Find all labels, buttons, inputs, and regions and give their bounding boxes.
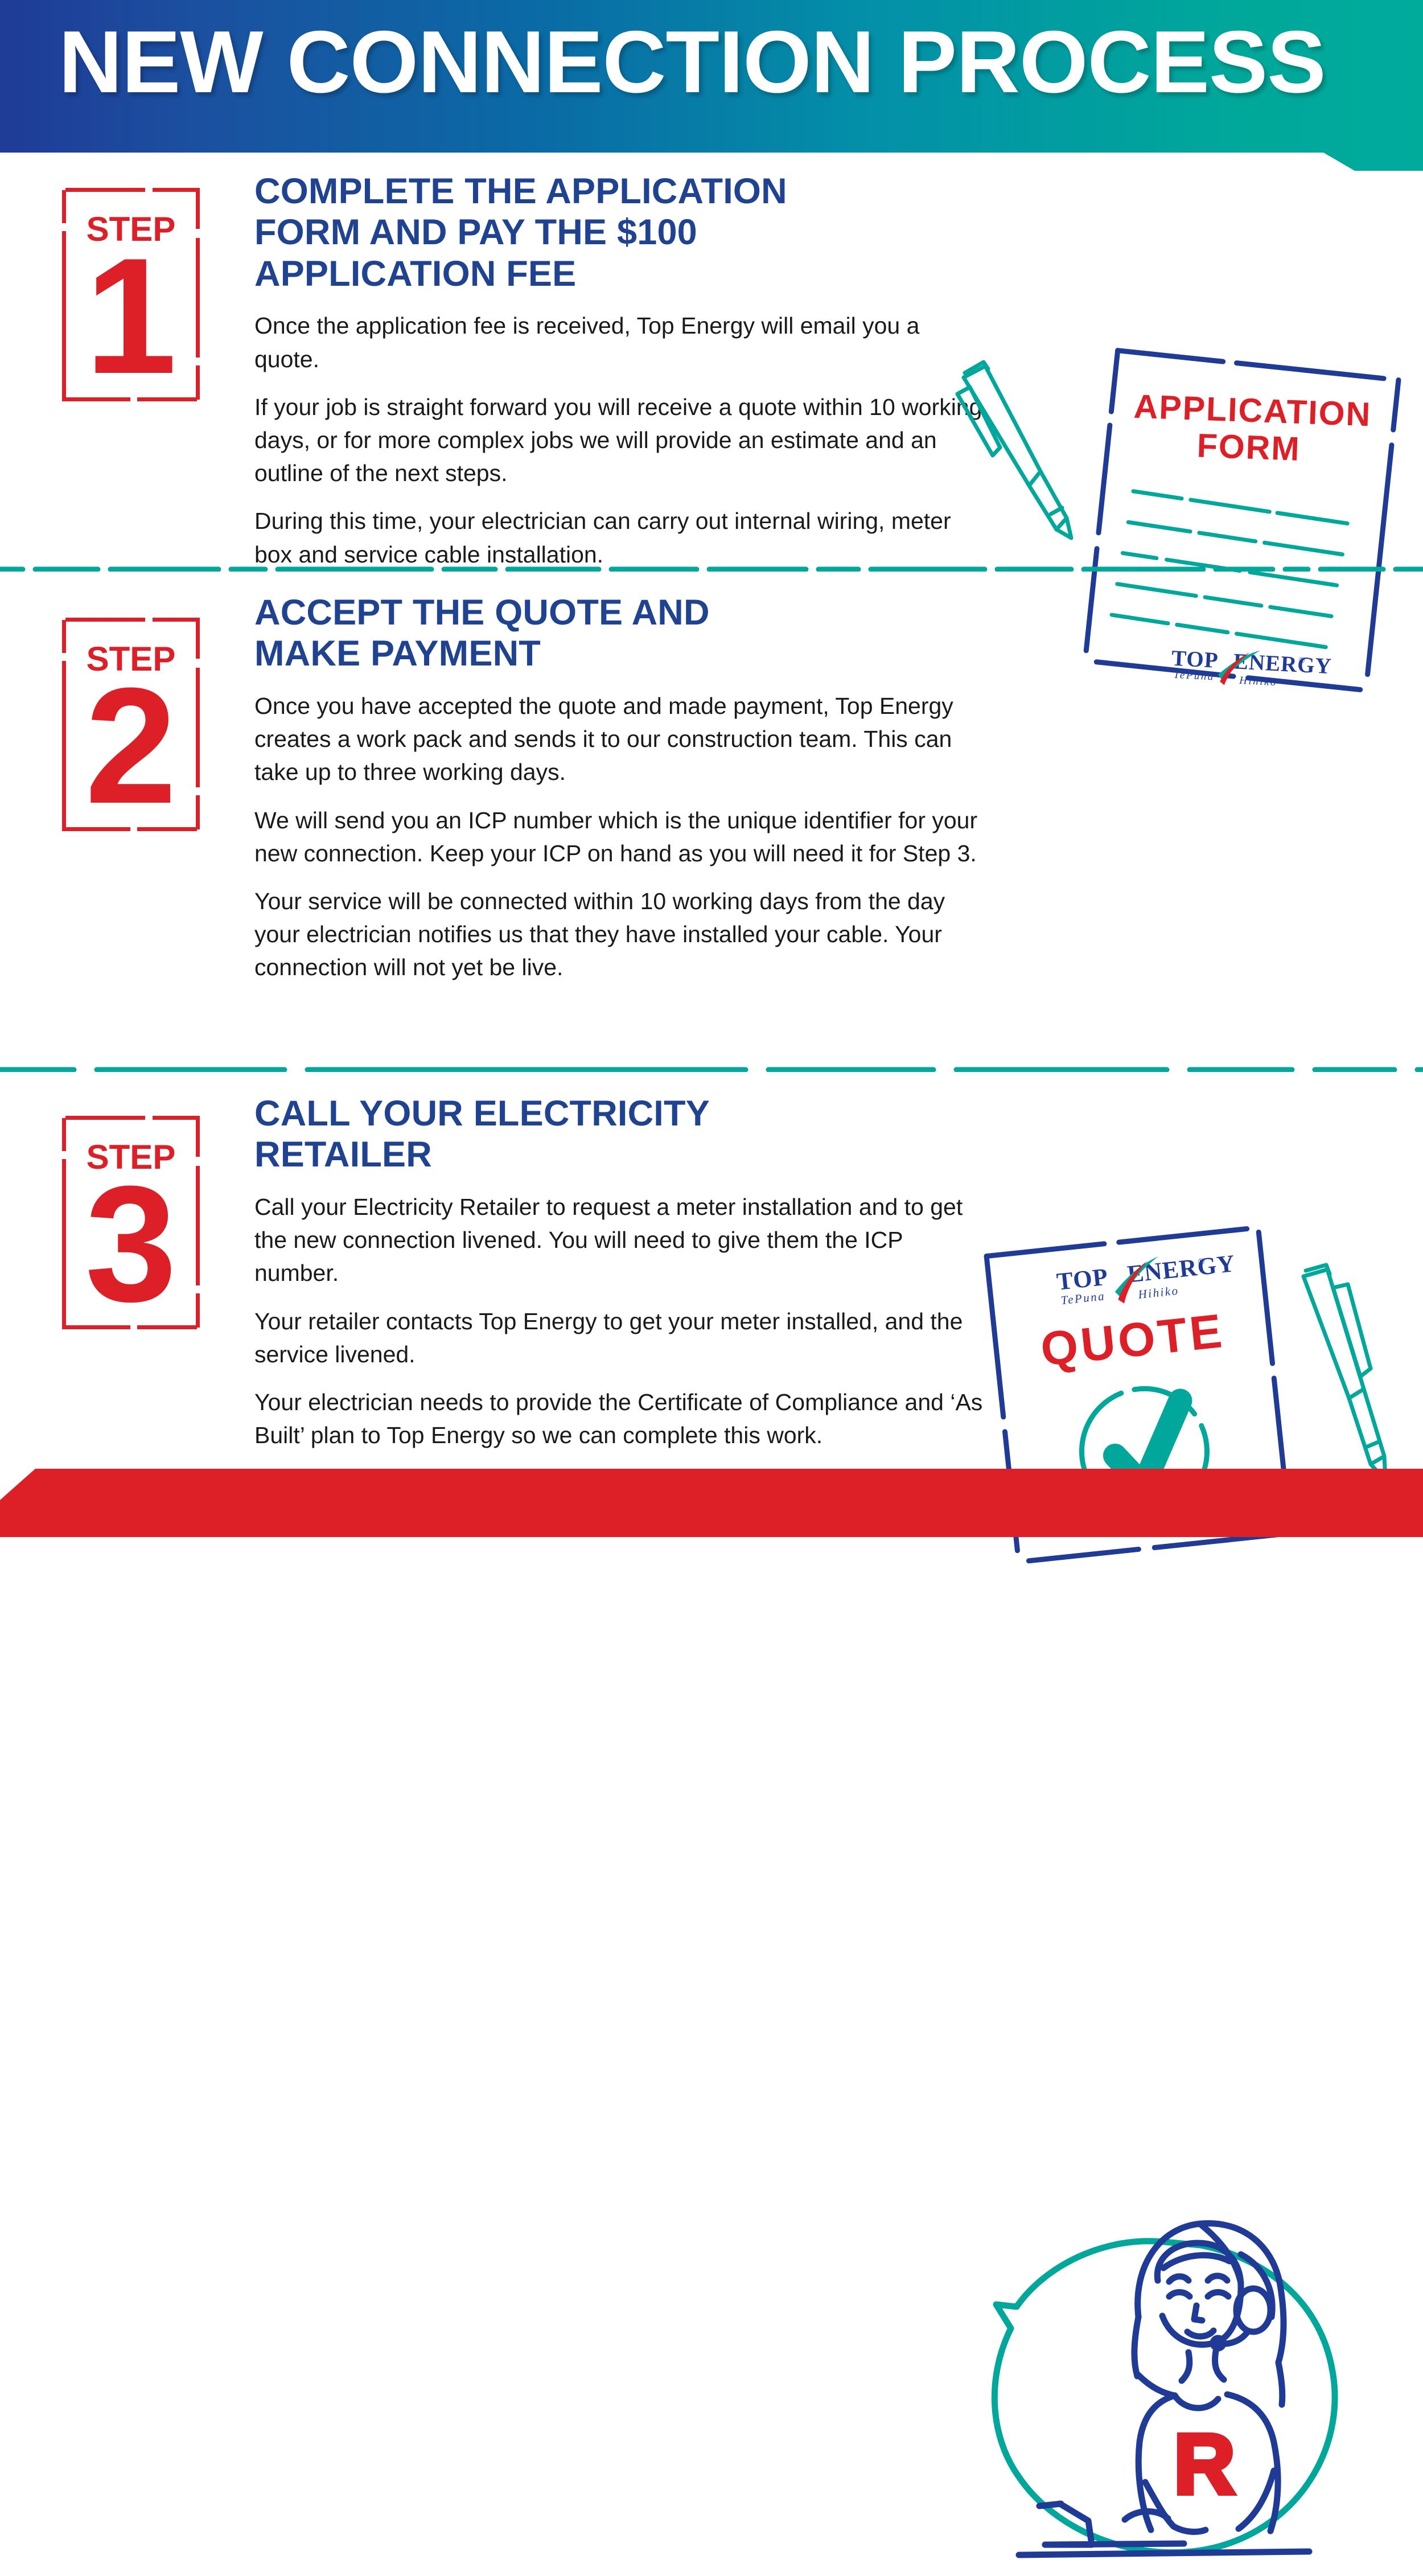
step-content-3: CALL YOUR ELECTRICITY RETAILER Call your… xyxy=(254,1093,989,1533)
page-header: NEW CONNECTION PROCESS xyxy=(0,0,1423,171)
step-badge-3: STEP 3 xyxy=(60,1116,202,1329)
shirt-logo-r: R xyxy=(1174,2416,1235,2512)
logo-registered-mark: ® xyxy=(1298,656,1305,665)
quote-title: QUOTE xyxy=(1038,1304,1227,1376)
step-paragraph: If your job is straight forward you will… xyxy=(254,391,989,490)
logo-word-tepuna: TePuna xyxy=(1173,669,1215,683)
step-paragraph: Once you have accepted the quote and mad… xyxy=(254,689,989,789)
form-title-line-1: APPLICATION xyxy=(1133,388,1372,434)
section-divider xyxy=(0,566,1423,572)
step-paragraph: We will send you an ICP number which is … xyxy=(254,804,989,870)
call-centre-illustration: R xyxy=(933,2175,1406,2573)
form-title-line-2: FORM xyxy=(1196,427,1301,468)
step-heading-2: ACCEPT THE QUOTE AND MAKE PAYMENT xyxy=(254,592,989,675)
application-form-illustration: APPLICATION FORM TOP ENERGY ® TePuna Hih xyxy=(945,342,1412,717)
step-content-2: ACCEPT THE QUOTE AND MAKE PAYMENT Once y… xyxy=(254,592,989,984)
step-paragraph: Call your Electricity Retailer to reques… xyxy=(254,1190,989,1290)
application-form-document: APPLICATION FORM TOP ENERGY ® TePuna Hih xyxy=(1084,351,1399,704)
step-heading-3: CALL YOUR ELECTRICITY RETAILER xyxy=(254,1093,989,1176)
section-divider xyxy=(0,1067,1423,1072)
step-badge-number: 1 xyxy=(60,233,202,398)
step-content-1: COMPLETE THE APPLICATION FORM AND PAY TH… xyxy=(254,171,989,571)
step-paragraph: Your retailer contacts Top Energy to get… xyxy=(254,1305,989,1371)
step-paragraph: Once the application fee is received, To… xyxy=(254,309,989,375)
page-footer-bar xyxy=(0,1469,1423,1537)
logo-registered-mark: ® xyxy=(1197,1257,1205,1267)
svg-text:R: R xyxy=(1174,2416,1235,2512)
step-badge-number: 2 xyxy=(60,663,202,828)
pen-icon xyxy=(957,362,1071,538)
pen-icon xyxy=(1303,1265,1385,1480)
step-paragraph: During this time, your electrician can c… xyxy=(254,504,989,570)
step-paragraph: Your electrician needs to provide the Ce… xyxy=(254,1386,989,1452)
step-badge-1: STEP 1 xyxy=(60,188,202,401)
step-paragraph: Your service will be connected within 10… xyxy=(254,885,989,984)
step-badge-number: 3 xyxy=(60,1161,202,1326)
step-heading-1: COMPLETE THE APPLICATION FORM AND PAY TH… xyxy=(254,171,989,294)
step-badge-2: STEP 2 xyxy=(60,618,202,831)
top-energy-logo: TOP ENERGY ® TePuna Hihiko xyxy=(1055,1248,1238,1310)
call-centre-agent-figure xyxy=(1019,2223,1309,2555)
logo-word-hihiko: Hihiko xyxy=(1239,675,1278,689)
page-title: NEW CONNECTION PROCESS xyxy=(59,13,1326,112)
